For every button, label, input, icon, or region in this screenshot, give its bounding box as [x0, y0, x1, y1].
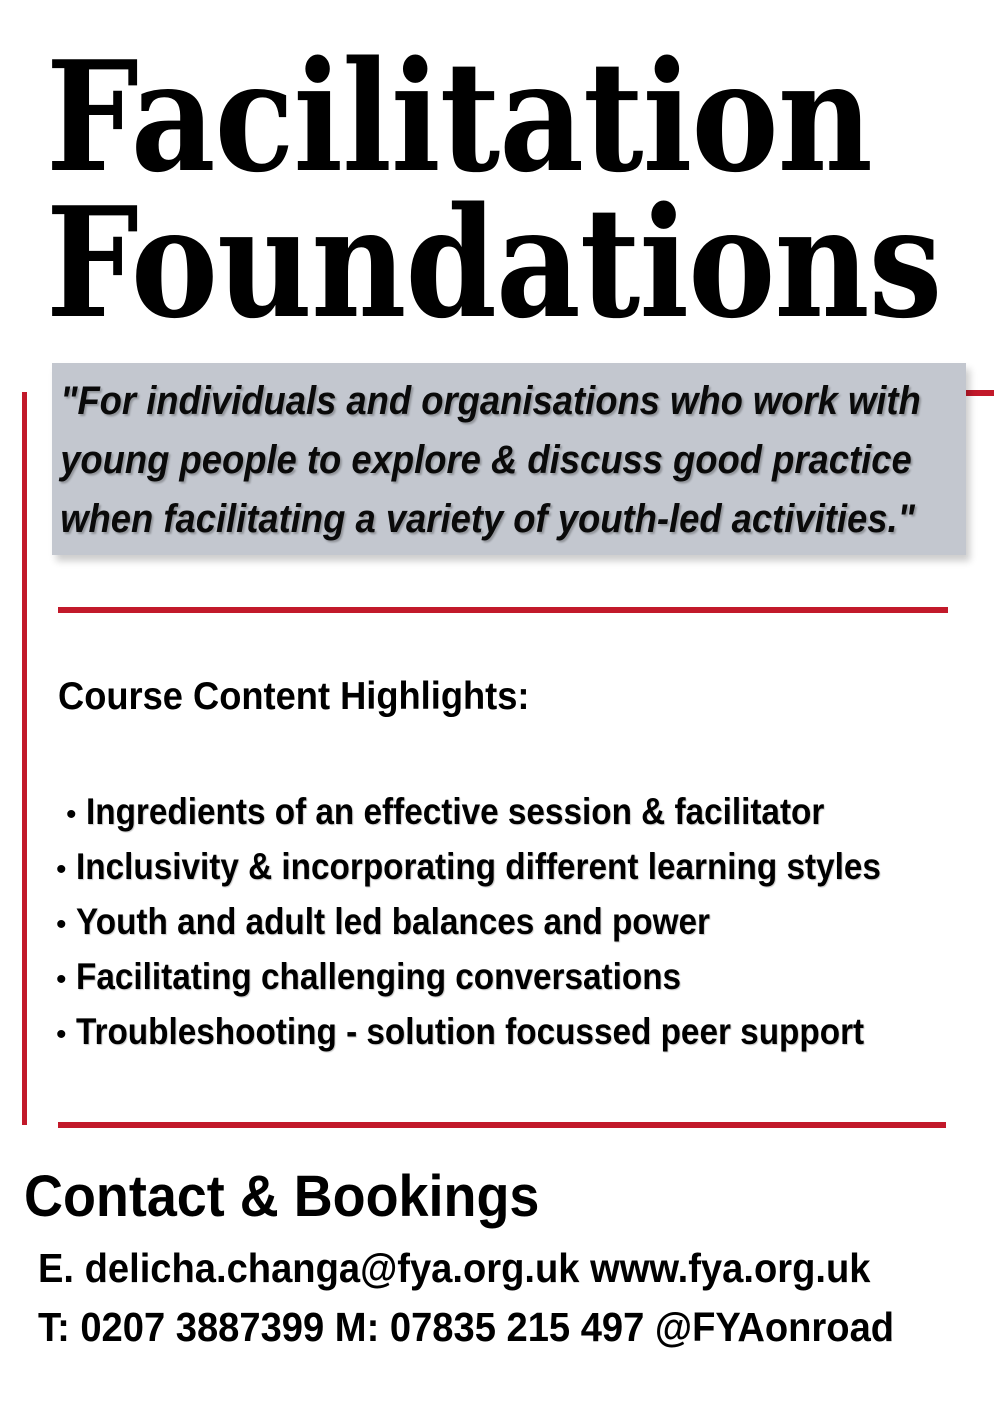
- left-accent-rule: [22, 392, 27, 1125]
- list-item: • Ingredients of an effective session & …: [56, 793, 986, 848]
- quote-line-1: "For individuals and organisations who w…: [52, 372, 884, 431]
- list-item-label: Youth and adult led balances and power: [76, 903, 710, 940]
- list-item: • Youth and adult led balances and power: [56, 903, 986, 958]
- bullet-dot-icon: •: [56, 965, 67, 995]
- quote-block: "For individuals and organisations who w…: [52, 363, 966, 555]
- list-item: • Troubleshooting - solution focussed pe…: [56, 1013, 986, 1068]
- list-item-label: Troubleshooting - solution focussed peer…: [76, 1013, 864, 1050]
- bullet-dot-icon: •: [56, 910, 67, 940]
- list-item-label: Inclusivity & incorporating different le…: [76, 848, 881, 885]
- list-item: • Facilitating challenging conversations: [56, 958, 986, 1013]
- list-item-label: Ingredients of an effective session & fa…: [86, 793, 824, 830]
- quote-line-3: when facilitating a variety of youth-led…: [52, 490, 884, 549]
- poster-canvas: Facilitation Foundations "For individual…: [0, 0, 994, 1402]
- quote-line-2: young people to explore & discuss good p…: [52, 431, 884, 490]
- list-item-label: Facilitating challenging conversations: [76, 958, 681, 995]
- poster-title: Facilitation Foundations: [46, 44, 976, 336]
- bullet-dot-icon: •: [56, 1020, 67, 1050]
- contact-email-and-website[interactable]: E. delicha.changa@fya.org.uk www.fya.org…: [38, 1248, 870, 1289]
- divider-rule-bottom: [58, 1122, 946, 1128]
- contact-phone-and-social[interactable]: T: 0207 3887399 M: 07835 215 497 @FYAonr…: [38, 1307, 894, 1348]
- list-item: • Inclusivity & incorporating different …: [56, 848, 986, 903]
- course-content-heading: Course Content Highlights:: [58, 677, 529, 716]
- divider-rule-top: [58, 607, 948, 613]
- title-line-1: Facilitation: [46, 44, 846, 190]
- course-highlights-list: • Ingredients of an effective session & …: [56, 793, 986, 1068]
- bullet-dot-icon: •: [66, 800, 77, 830]
- bullet-dot-icon: •: [56, 855, 67, 885]
- title-line-2: Foundations: [46, 190, 846, 336]
- contact-heading: Contact & Bookings: [24, 1168, 539, 1226]
- right-accent-stub-rule: [962, 390, 994, 396]
